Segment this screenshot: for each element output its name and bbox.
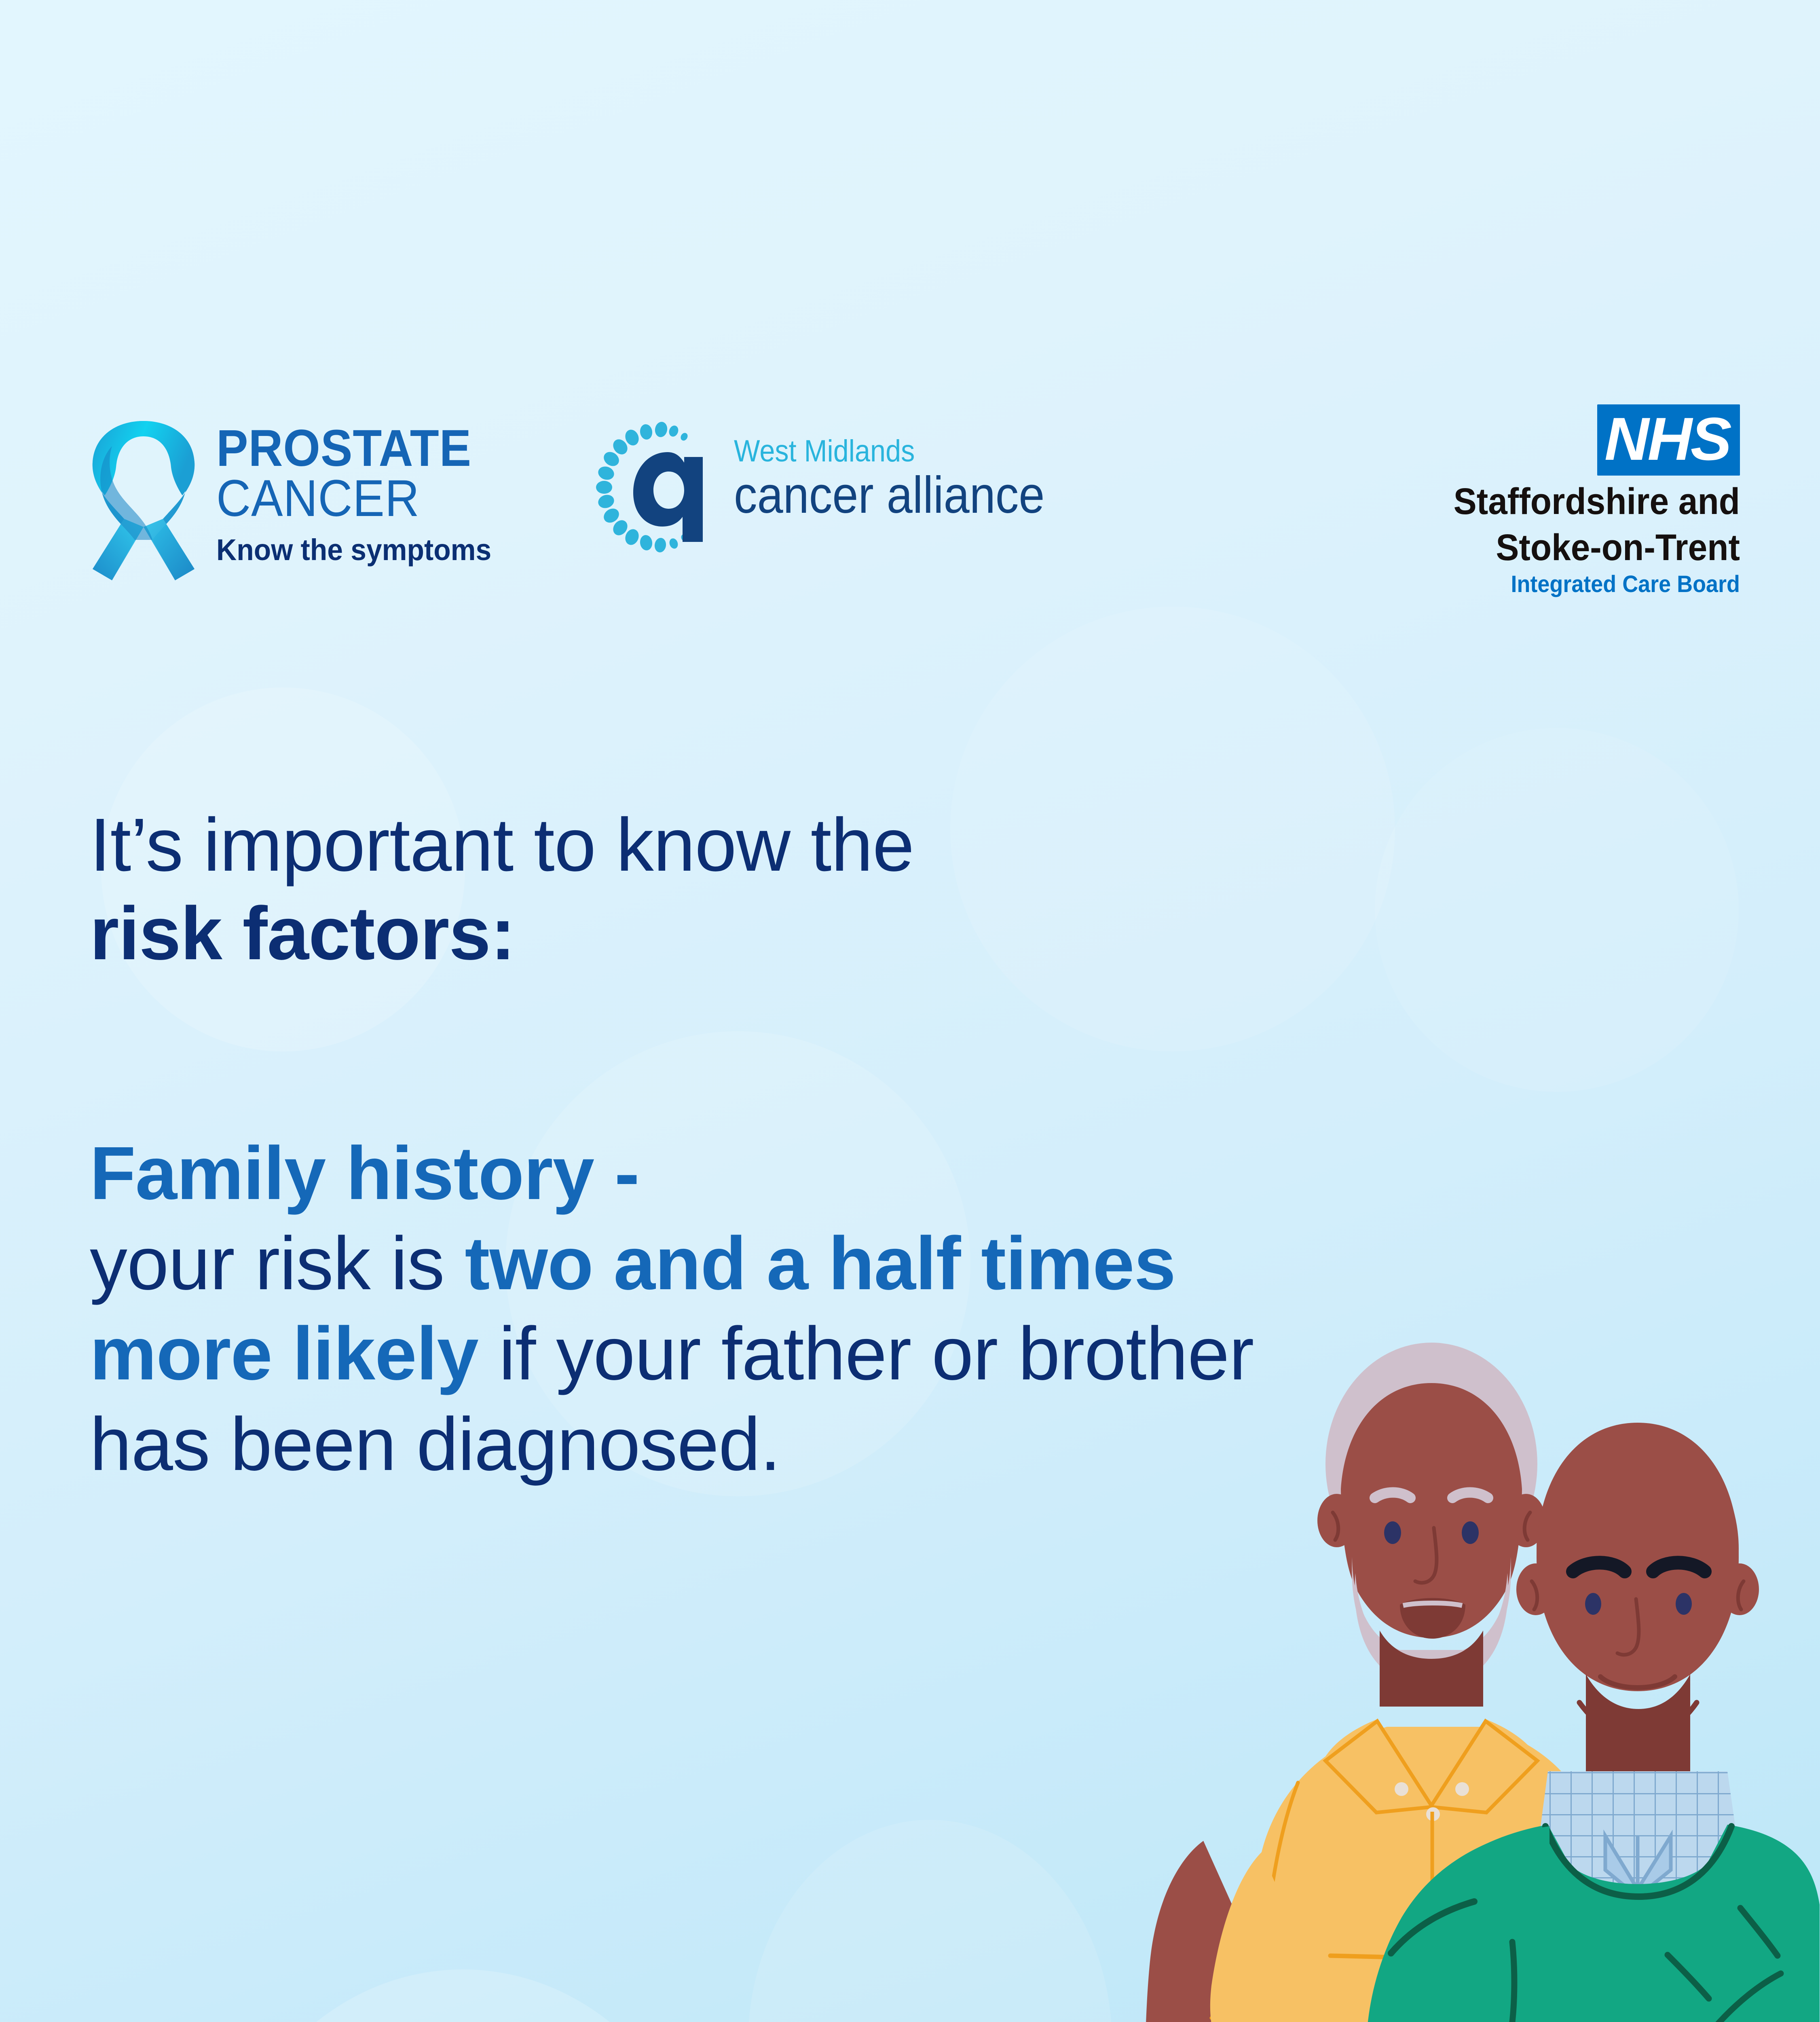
headline-line-2: risk factors: <box>90 892 515 975</box>
headline-line-1: It’s important to know the <box>90 803 914 887</box>
prostate-cancer-wordmark: PROSTATE CANCER Know the symptoms <box>216 423 509 567</box>
nhs-org-line-2: Stoke-on-Trent <box>1341 528 1740 568</box>
headline: It’s important to know the risk factors: <box>90 801 1667 978</box>
prostate-cancer-logo: PROSTATE CANCER Know the symptoms <box>87 419 572 588</box>
alliance-dotted-circle-icon <box>594 421 728 554</box>
body-segment-normal-1: your risk is <box>90 1222 465 1305</box>
logo-row: PROSTATE CANCER Know the symptoms <box>0 388 1820 671</box>
west-midlands-cancer-alliance-logo: West Midlands cancer alliance <box>594 417 1169 574</box>
pc-tagline: Know the symptoms <box>216 533 491 567</box>
pc-line-2: CANCER <box>216 474 486 524</box>
nhs-org-line-1: Staffordshire and <box>1341 482 1740 522</box>
two-men-illustration <box>1108 1330 1820 2022</box>
awareness-ribbon-icon <box>87 419 200 588</box>
body-copy: Family history -your risk is two and a h… <box>90 1128 1262 1489</box>
nhs-logo: NHS Staffordshire and Stoke-on-Trent Int… <box>1311 404 1740 631</box>
alliance-wordmark: West Midlands cancer alliance <box>734 436 1079 522</box>
illustration-svg <box>1108 1330 1820 2022</box>
body-segment-highlight-1: Family history - <box>90 1132 639 1215</box>
nhs-org-sub: Integrated Care Board <box>1341 571 1740 597</box>
poster-canvas: PROSTATE CANCER Know the symptoms <box>0 0 1820 2022</box>
nhs-wordmark-box: NHS <box>1597 404 1740 476</box>
nhs-wordmark: NHS <box>1604 408 1730 469</box>
alliance-line-1: West Midlands <box>734 436 1044 467</box>
pc-line-1: PROSTATE <box>216 423 486 474</box>
alliance-line-2: cancer alliance <box>734 469 1044 522</box>
